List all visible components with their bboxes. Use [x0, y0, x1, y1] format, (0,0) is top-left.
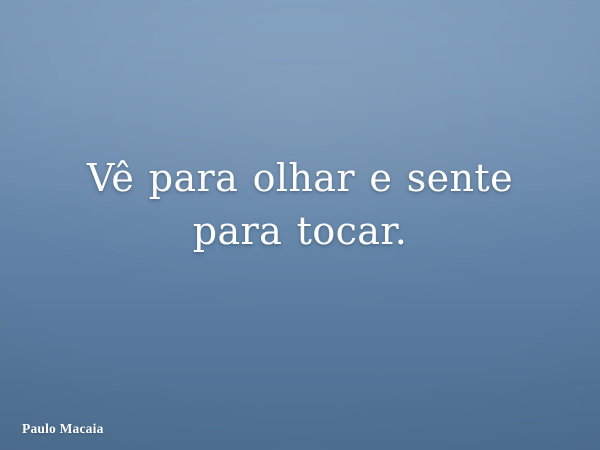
quote-card: Vê para olhar e sente para tocar. Paulo … — [0, 0, 600, 450]
quote-author: Paulo Macaia — [22, 421, 104, 437]
quote-text: Vê para olhar e sente para tocar. — [34, 152, 566, 258]
